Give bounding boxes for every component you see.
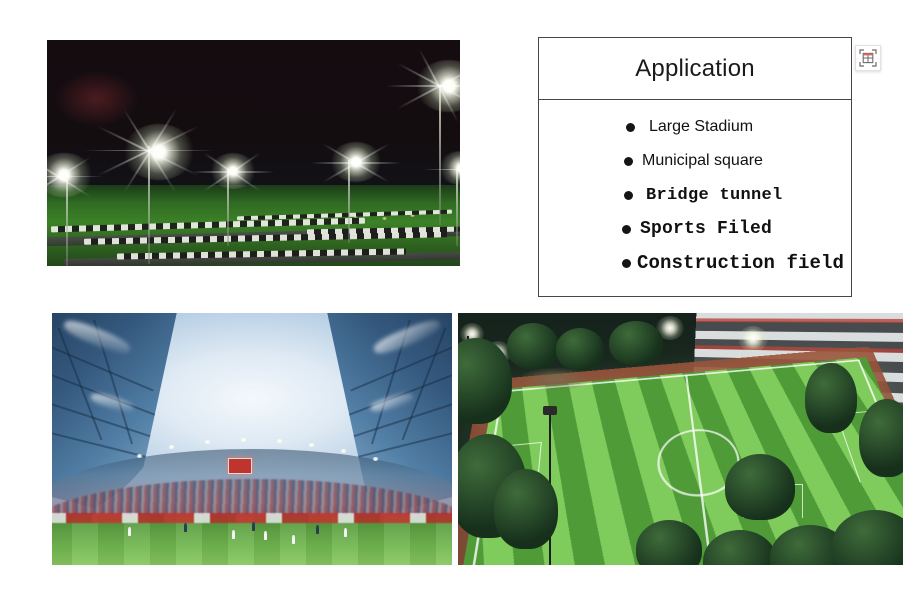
application-card-header: Application — [539, 38, 851, 100]
list-item-label: Bridge tunnel — [646, 186, 783, 205]
bullet-icon — [622, 259, 631, 268]
application-list: Large Stadium Municipal square Bridge tu… — [539, 100, 851, 280]
bullet-icon — [622, 225, 631, 234]
dirt-patch — [520, 368, 590, 390]
list-item[interactable]: Construction field — [539, 246, 851, 280]
tree — [609, 321, 663, 365]
list-item[interactable]: Sports Filed — [539, 212, 851, 246]
bullet-icon — [626, 123, 635, 132]
floodlight-head — [543, 406, 557, 415]
list-item-label: Municipal square — [642, 152, 763, 170]
light-ray — [386, 85, 460, 87]
scoreboard — [228, 458, 252, 474]
night-motorsport-circuit-photo — [47, 40, 460, 266]
tree — [507, 323, 559, 369]
list-item-label: Large Stadium — [649, 118, 753, 136]
floodlight-glow — [738, 326, 768, 352]
tree — [494, 469, 558, 549]
tree — [556, 328, 604, 370]
tree — [725, 454, 795, 520]
bullet-icon — [624, 191, 633, 200]
table-recognition-button[interactable] — [855, 45, 881, 71]
list-item-label: Construction field — [637, 252, 844, 274]
list-item[interactable]: Municipal square — [539, 144, 851, 178]
page-title: Application — [635, 55, 755, 83]
list-item[interactable]: Bridge tunnel — [539, 178, 851, 212]
table-recognition-icon — [859, 49, 877, 67]
list-item[interactable]: Large Stadium — [539, 110, 851, 144]
indoor-football-stadium-photo — [52, 313, 452, 565]
application-card: Application Large Stadium Municipal squa… — [538, 37, 852, 297]
tree — [805, 363, 857, 433]
bullet-icon — [624, 157, 633, 166]
aerial-football-field-photo — [458, 313, 903, 565]
light-ray — [423, 169, 460, 171]
list-item-label: Sports Filed — [640, 219, 772, 239]
